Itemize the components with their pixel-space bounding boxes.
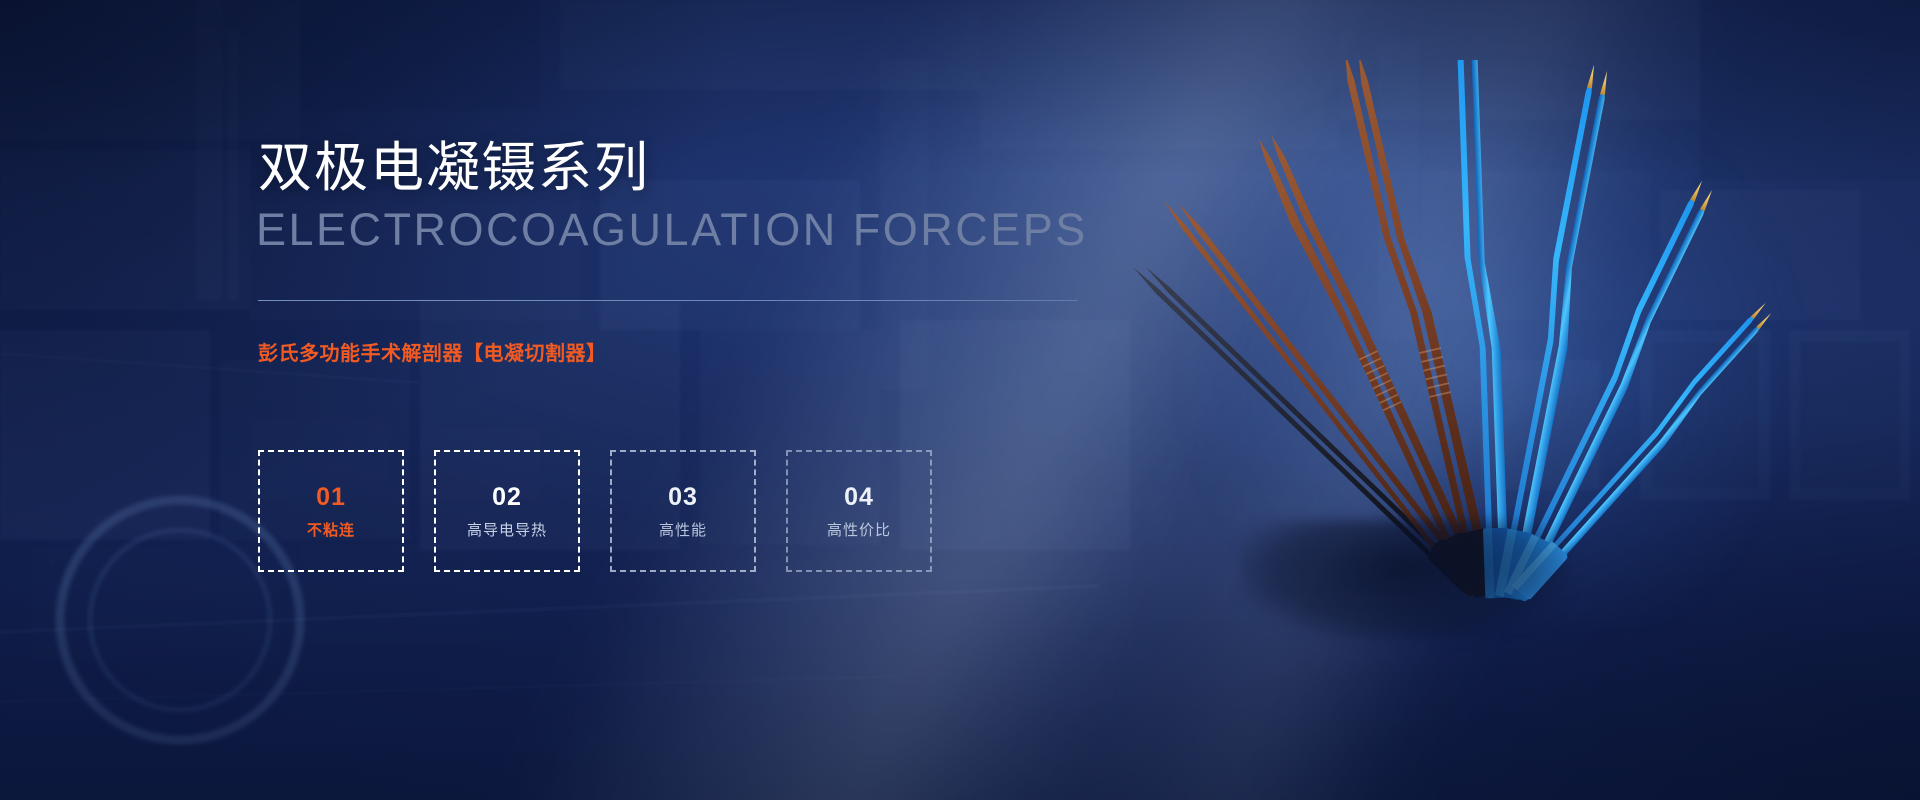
product-banner: 双极电凝镊系列 ELECTROCOAGULATION FORCEPS 彭氏多功能… bbox=[0, 0, 1920, 800]
page-subtitle: 彭氏多功能手术解剖器【电凝切割器】 bbox=[258, 337, 607, 366]
feature-label: 高性价比 bbox=[827, 523, 891, 538]
feature-item-01[interactable]: 01 不粘连 bbox=[258, 450, 404, 572]
feature-number: 04 bbox=[844, 485, 874, 510]
feature-list: 01 不粘连 02 高导电导热 03 高性能 04 高性价比 bbox=[258, 450, 932, 572]
feature-item-03[interactable]: 03 高性能 bbox=[610, 450, 756, 572]
page-title-en: ELECTROCOAGULATION FORCEPS bbox=[256, 205, 1088, 255]
feature-label: 高导电导热 bbox=[467, 523, 547, 538]
banner-content: 双极电凝镊系列 ELECTROCOAGULATION FORCEPS 彭氏多功能… bbox=[258, 0, 1158, 800]
feature-label: 高性能 bbox=[659, 523, 707, 538]
feature-item-02[interactable]: 02 高导电导热 bbox=[434, 450, 580, 572]
title-divider bbox=[258, 300, 1078, 301]
product-base-shadow bbox=[1240, 520, 1570, 640]
feature-label: 不粘连 bbox=[307, 523, 355, 538]
feature-number: 03 bbox=[668, 485, 698, 510]
feature-item-04[interactable]: 04 高性价比 bbox=[786, 450, 932, 572]
feature-number: 01 bbox=[316, 485, 346, 510]
page-title-cn: 双极电凝镊系列 bbox=[258, 140, 650, 197]
feature-number: 02 bbox=[492, 485, 522, 510]
